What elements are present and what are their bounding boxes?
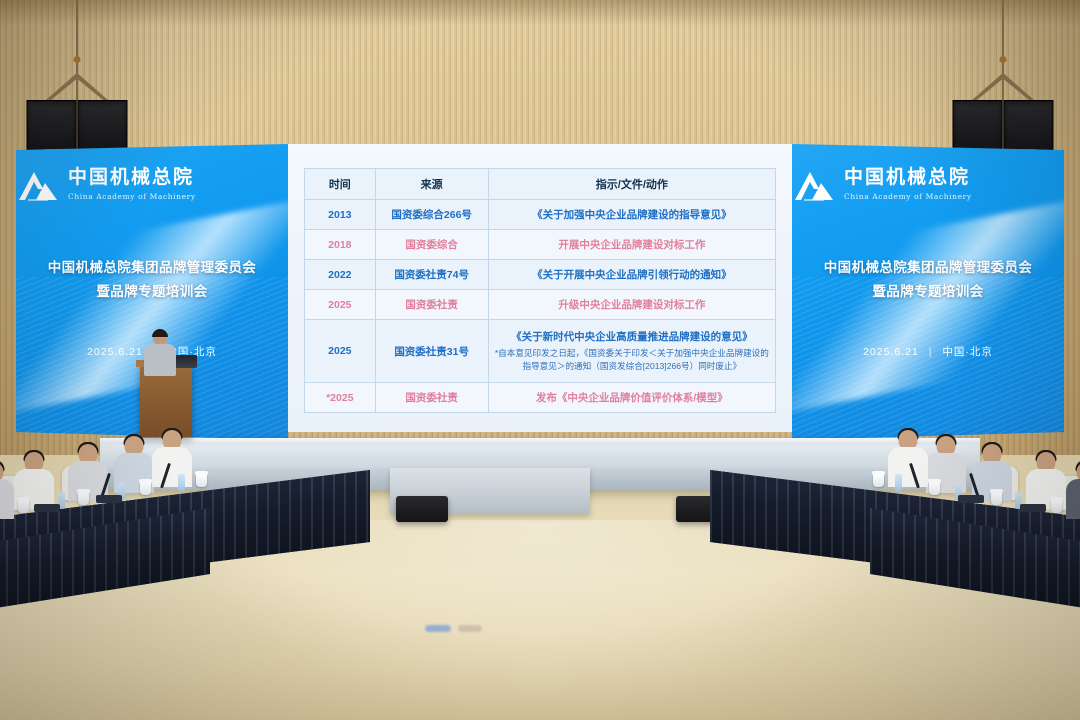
floor-object-blue — [425, 625, 451, 632]
panel-location: 中国·北京 — [942, 346, 993, 358]
cell-time: 2022 — [305, 260, 376, 290]
panel-meta-right: 2025.6.21 | 中国·北京 — [792, 344, 1064, 359]
cell-time: 2025 — [305, 320, 376, 383]
cell-source: 国资委综合266号 — [375, 200, 488, 230]
table-row: 2018 国资委综合 开展中央企业品牌建设对标工作 — [305, 230, 776, 260]
presenter — [143, 330, 177, 374]
column-header-action: 指示/文件/动作 — [488, 169, 775, 200]
led-panel-right: 中国机械总院 China Academy of Machinery 中国机械总院… — [792, 144, 1064, 440]
cell-source: 国资委社责 — [375, 383, 488, 413]
brand-name-en: China Academy of Machinery — [844, 192, 972, 201]
column-header-source: 来源 — [375, 169, 488, 200]
cell-time: 2025 — [305, 290, 376, 320]
brand-name-cn: 中国机械总院 — [844, 166, 970, 188]
presenter-body — [144, 344, 176, 376]
presenter-hair — [152, 329, 168, 337]
slide-table-wrapper: 时间 来源 指示/文件/动作 2013 国资委综合266号 《关于加强中央企业品… — [304, 168, 776, 413]
table-body: 2013 国资委综合266号 《关于加强中央企业品牌建设的指导意见》 2018 … — [305, 200, 776, 413]
table-row: *2025 国资委社责 发布《中央企业品牌价值评价体系/模型》 — [305, 383, 776, 413]
table-row: 2025 国资委社责31号 《关于新时代中央企业高质量推进品牌建设的意见》 *自… — [305, 320, 776, 383]
panel-title-left: 中国机械总院集团品牌管理委员会 暨品牌专题培训会 — [16, 256, 288, 303]
cell-source: 国资委综合 — [375, 230, 488, 260]
floor-monitor-speaker — [396, 496, 448, 522]
panel-separator: | — [929, 346, 933, 358]
policy-timeline-table: 时间 来源 指示/文件/动作 2013 国资委综合266号 《关于加强中央企业品… — [304, 168, 776, 413]
cell-source: 国资委社责31号 — [375, 320, 488, 383]
brand-lockup-right: 中国机械总院 China Academy of Machinery — [792, 168, 1064, 203]
brand-text: 中国机械总院 China Academy of Machinery — [844, 168, 1064, 203]
panel-title-line1: 中国机械总院集团品牌管理委员会 — [16, 256, 288, 280]
panel-date: 2025.6.21 — [863, 346, 919, 358]
cell-action-note: *自本意见印发之日起，《国资委关于印发＜关于加强中央企业品牌建设的指导意见＞的通… — [489, 347, 775, 373]
table-row: 2025 国资委社责 升级中央企业品牌建设对标工作 — [305, 290, 776, 320]
cell-action: 升级中央企业品牌建设对标工作 — [488, 290, 775, 320]
cell-action: 发布《中央企业品牌价值评价体系/模型》 — [488, 383, 775, 413]
panel-title-line2: 暨品牌专题培训会 — [792, 280, 1064, 304]
cell-time: 2013 — [305, 200, 376, 230]
cell-source: 国资委社责74号 — [375, 260, 488, 290]
cell-action: 《关于新时代中央企业高质量推进品牌建设的意见》 *自本意见印发之日起，《国资委关… — [488, 320, 775, 383]
brand-name-cn: 中国机械总院 — [68, 166, 194, 188]
floor-object-beige — [458, 625, 482, 632]
led-panel-center: 时间 来源 指示/文件/动作 2013 国资委综合266号 《关于加强中央企业品… — [288, 144, 792, 440]
table-header-row: 时间 来源 指示/文件/动作 — [305, 169, 776, 200]
cell-action: 《关于加强中央企业品牌建设的指导意见》 — [488, 200, 775, 230]
brand-lockup-left: 中国机械总院 China Academy of Machinery — [16, 168, 288, 203]
panel-title-line1: 中国机械总院集团品牌管理委员会 — [792, 256, 1064, 280]
rig-knob — [74, 56, 81, 63]
brand-name-en: China Academy of Machinery — [68, 192, 196, 201]
stage-edge — [100, 438, 980, 444]
cell-source: 国资委社责 — [375, 290, 488, 320]
panel-title-right: 中国机械总院集团品牌管理委员会 暨品牌专题培训会 — [792, 256, 1064, 303]
panel-title-line2: 暨品牌专题培训会 — [16, 280, 288, 304]
brand-text: 中国机械总院 China Academy of Machinery — [68, 168, 288, 203]
table-row: 2013 国资委综合266号 《关于加强中央企业品牌建设的指导意见》 — [305, 200, 776, 230]
column-header-time: 时间 — [305, 169, 376, 200]
cell-time: *2025 — [305, 383, 376, 413]
cell-time: 2018 — [305, 230, 376, 260]
cell-action-main: 《关于新时代中央企业高质量推进品牌建设的意见》 — [489, 330, 775, 344]
cell-action: 《关于开展中央企业品牌引领行动的通知》 — [488, 260, 775, 290]
table-row: 2022 国资委社责74号 《关于开展中央企业品牌引领行动的通知》 — [305, 260, 776, 290]
mountain-triangle-logo-icon — [792, 169, 836, 203]
mountain-triangle-logo-icon — [16, 169, 60, 203]
cell-action: 开展中央企业品牌建设对标工作 — [488, 230, 775, 260]
rig-knob — [1000, 56, 1007, 63]
panel-date: 2025.6.21 — [87, 346, 143, 358]
conference-room-photo: 中国机械总院 China Academy of Machinery 中国机械总院… — [0, 0, 1080, 720]
